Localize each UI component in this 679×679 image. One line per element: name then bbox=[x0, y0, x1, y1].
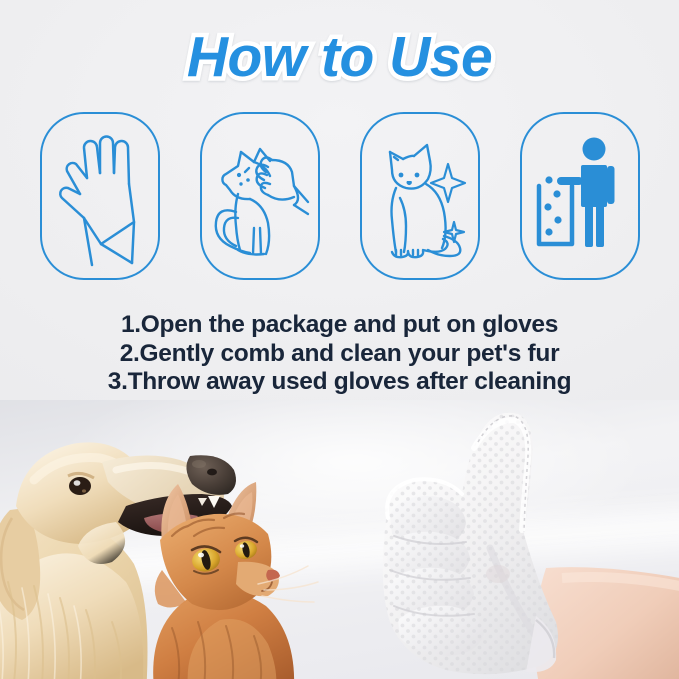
how-to-use-panel: How to Use bbox=[0, 0, 679, 679]
icon-box-4 bbox=[520, 112, 640, 280]
title-area: How to Use bbox=[0, 24, 679, 90]
icon-box-1 bbox=[40, 112, 160, 280]
gloved-hand-thumbs-up bbox=[350, 408, 679, 679]
pets-and-glove-photo bbox=[0, 400, 679, 679]
clean-sparkling-cat-icon bbox=[370, 126, 470, 266]
step-item-1: 1.Open the package and put on gloves bbox=[0, 311, 679, 340]
step-item-2: 2.Gently comb and clean your pet's fur bbox=[0, 340, 679, 369]
icon-box-3 bbox=[360, 112, 480, 280]
icon-box-2 bbox=[200, 112, 320, 280]
abyssinian-cat bbox=[128, 478, 333, 679]
step-item-3: 3.Throw away used gloves after cleaning bbox=[0, 368, 679, 397]
hand-grooming-cat-icon bbox=[208, 128, 312, 264]
page-title: How to Use bbox=[187, 24, 492, 90]
step-icon-row bbox=[40, 112, 640, 284]
steps-list: 1.Open the package and put on gloves 2.G… bbox=[0, 311, 679, 397]
glove-hand-icon bbox=[54, 126, 146, 266]
dispose-in-bin-icon bbox=[534, 136, 626, 256]
